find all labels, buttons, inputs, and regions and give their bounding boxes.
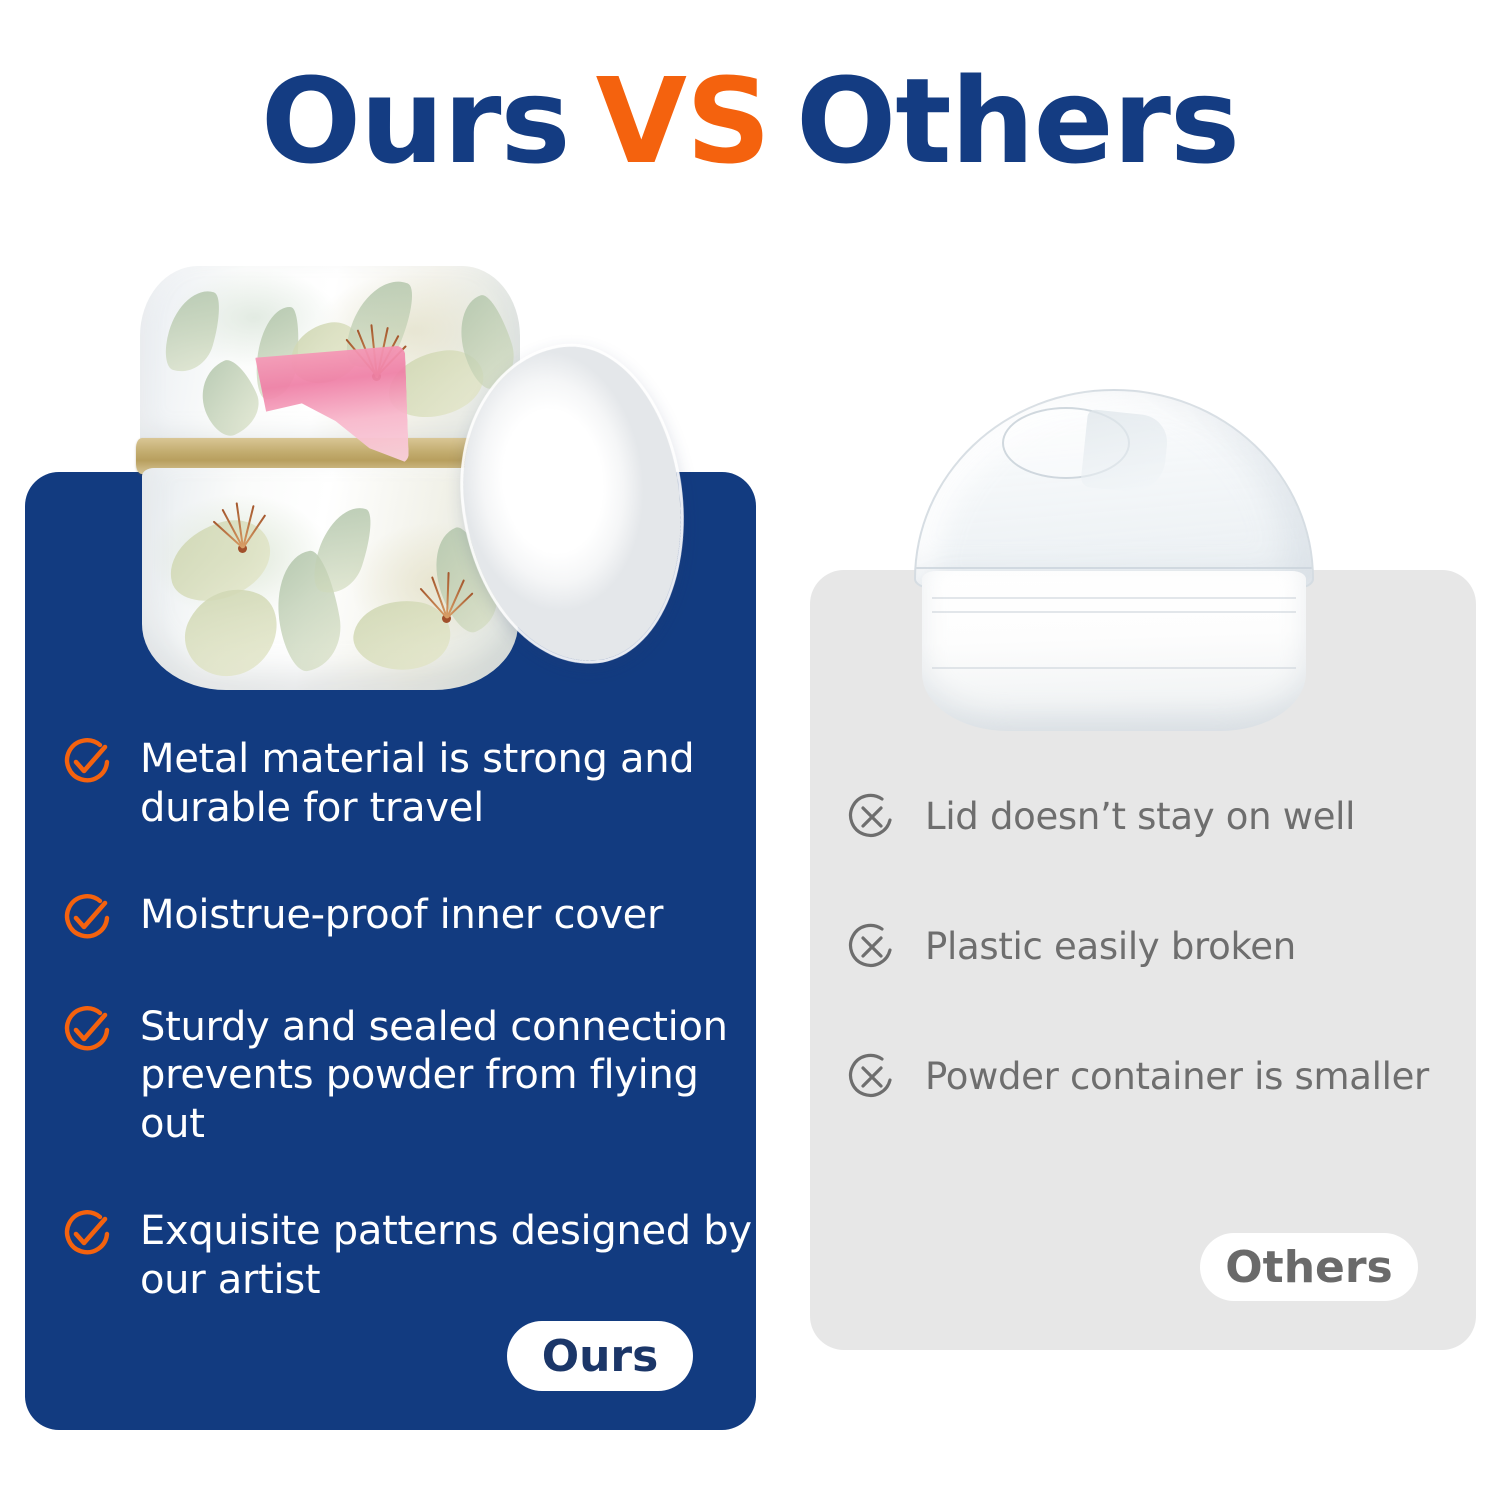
x-circle-icon [845,920,899,974]
list-item-label: Metal material is strong and durable for… [140,735,760,833]
check-circle-icon [60,735,114,789]
dome-seam [916,567,1312,569]
list-item-label: Moistrue-proof inner cover [140,891,663,940]
ours-feature-list: Metal material is strong and durable for… [60,735,760,1305]
list-item: Moistrue-proof inner cover [60,891,760,945]
list-item-label: Lid doesn’t stay on well [925,795,1355,839]
dome-tab-detail [1080,409,1170,495]
check-circle-icon [60,1207,114,1261]
list-item-label: Exquisite patterns designed by our artis… [140,1207,760,1305]
others-flaw-list: Lid doesn’t stay on well Plastic easily … [845,790,1475,1104]
x-circle-icon [845,1050,899,1104]
check-circle-icon [60,1003,114,1057]
list-item-label: Sturdy and sealed connection prevents po… [140,1003,760,1149]
list-item: Powder container is smaller [845,1050,1475,1104]
list-item-label: Plastic easily broken [925,925,1296,969]
plastic-base [922,571,1306,731]
ours-badge: Ours [507,1321,693,1391]
check-circle-icon [60,891,114,945]
title-word-vs: VS [596,62,770,180]
others-product-image [880,385,1350,740]
title-word-others: Others [796,62,1239,180]
title-word-ours: Ours [261,62,570,180]
list-item-label: Powder container is smaller [925,1055,1429,1099]
page-title: OursVSOthers [0,62,1500,180]
others-badge: Others [1200,1233,1418,1301]
list-item: Exquisite patterns designed by our artis… [60,1207,760,1305]
x-circle-icon [845,790,899,844]
list-item: Plastic easily broken [845,920,1475,974]
list-item: Metal material is strong and durable for… [60,735,760,833]
plastic-dome-lid [914,389,1314,589]
ours-product-image [120,252,740,682]
list-item: Lid doesn’t stay on well [845,790,1475,844]
list-item: Sturdy and sealed connection prevents po… [60,1003,760,1149]
